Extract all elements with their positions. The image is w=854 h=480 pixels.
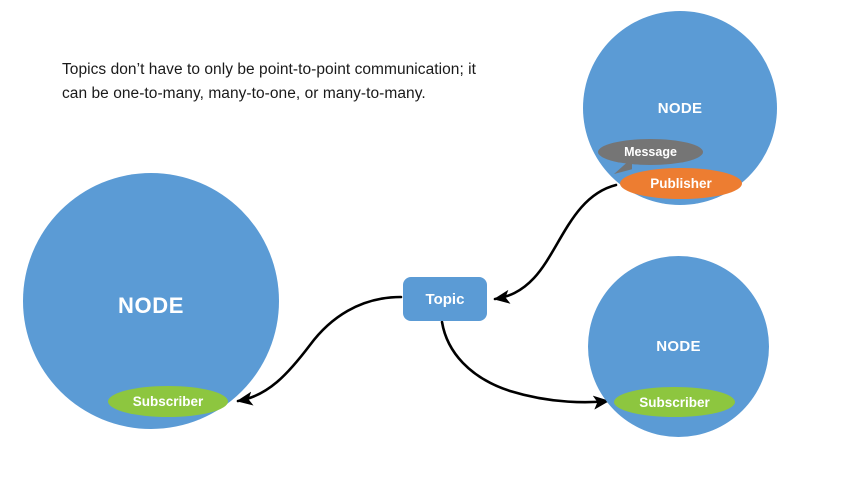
subscriber-pill-bottomright-label: Subscriber [639, 395, 710, 410]
subscriber-pill-left-label: Subscriber [133, 394, 204, 409]
caption-text: Topics don’t have to only be point-to-po… [62, 58, 482, 106]
message-pill-label: Message [624, 145, 677, 159]
publisher-pill-label: Publisher [650, 176, 712, 191]
subscriber-pill-left[interactable]: Subscriber [108, 386, 228, 417]
connector-publisher-to-topic [495, 185, 616, 299]
node-topright-label: NODE [583, 100, 777, 117]
topic-box-label: Topic [426, 291, 465, 308]
connector-topic-to-subscriber-bottomright [442, 322, 608, 402]
message-pill[interactable]: Message [598, 139, 703, 165]
node-left-label: NODE [23, 293, 279, 319]
node-bottomright-label: NODE [588, 338, 769, 355]
topic-box[interactable]: Topic [403, 277, 487, 321]
subscriber-pill-bottomright[interactable]: Subscriber [614, 387, 735, 417]
publisher-pill[interactable]: Publisher [620, 168, 742, 199]
